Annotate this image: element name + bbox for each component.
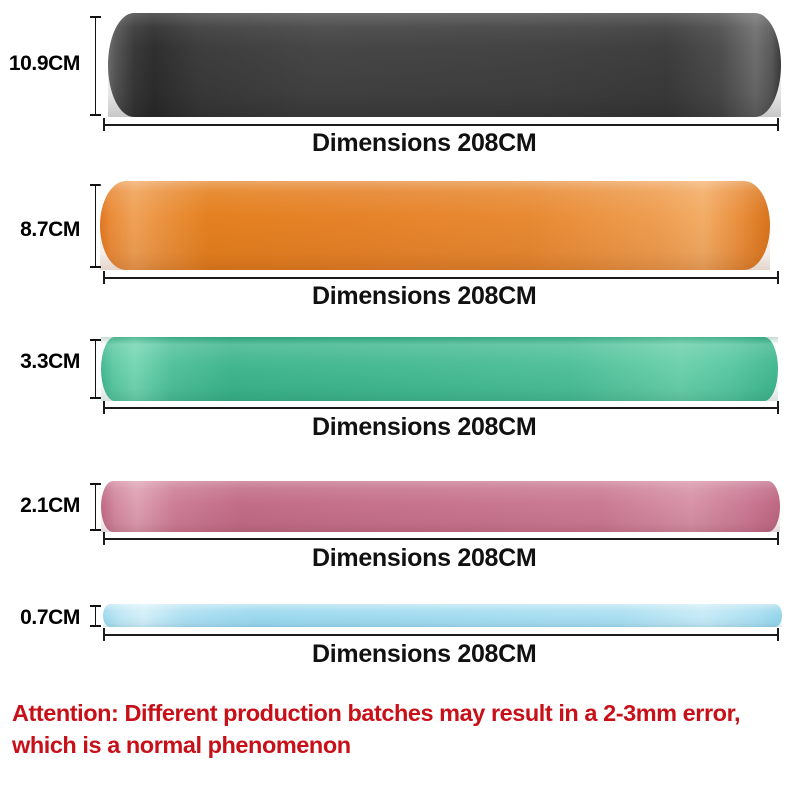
band-group-orange: 8.7CM Dimensions 208CM: [0, 160, 800, 320]
width-label-blue: Dimensions 208CM: [312, 640, 536, 669]
width-label-orange: Dimensions 208CM: [312, 282, 536, 311]
band-pink-body: [101, 481, 780, 532]
width-dimension-line-orange: [103, 277, 779, 279]
height-dimension-line-pink: [95, 483, 96, 531]
band-blue-body: [103, 604, 782, 627]
band-green: [101, 337, 778, 401]
band-group-pink: 2.1CM Dimensions 208CM: [0, 466, 800, 606]
height-dimension-line-blue: [95, 605, 96, 627]
band-orange: [100, 181, 770, 270]
width-label-pink: Dimensions 208CM: [312, 544, 536, 573]
height-label-green: 3.3CM: [9, 350, 80, 374]
width-dimension-line-pink: [103, 538, 779, 540]
width-label-black: Dimensions 208CM: [312, 129, 536, 158]
band-group-blue: 0.7CM Dimensions 208CM: [0, 596, 800, 696]
width-dimension-line-green: [103, 407, 779, 409]
height-dimension-line-green: [95, 339, 96, 399]
width-label-green: Dimensions 208CM: [312, 413, 536, 442]
band-group-black: 10.9CM Dimensions 208CM: [0, 0, 800, 165]
band-pink: [101, 481, 780, 532]
band-orange-body: [100, 181, 770, 270]
height-dimension-line-orange: [95, 184, 96, 268]
height-label-orange: 8.7CM: [6, 218, 80, 242]
band-group-green: 3.3CM Dimensions 208CM: [0, 318, 800, 468]
band-black-body: [108, 13, 781, 117]
band-black: [108, 13, 781, 117]
width-dimension-line-black: [103, 124, 779, 126]
attention-warning-text: Attention: Different production batches …: [12, 697, 792, 762]
band-green-body: [101, 337, 778, 401]
height-dimension-line-black: [95, 16, 96, 116]
height-label-black: 10.9CM: [2, 52, 80, 76]
width-dimension-line-blue: [103, 634, 779, 636]
height-label-pink: 2.1CM: [11, 494, 80, 518]
band-blue: [103, 604, 782, 627]
height-label-blue: 0.7CM: [14, 606, 80, 630]
band-dimension-diagram: 10.9CM Dimensions 208CM 8.7CM Dimensions…: [0, 0, 800, 800]
